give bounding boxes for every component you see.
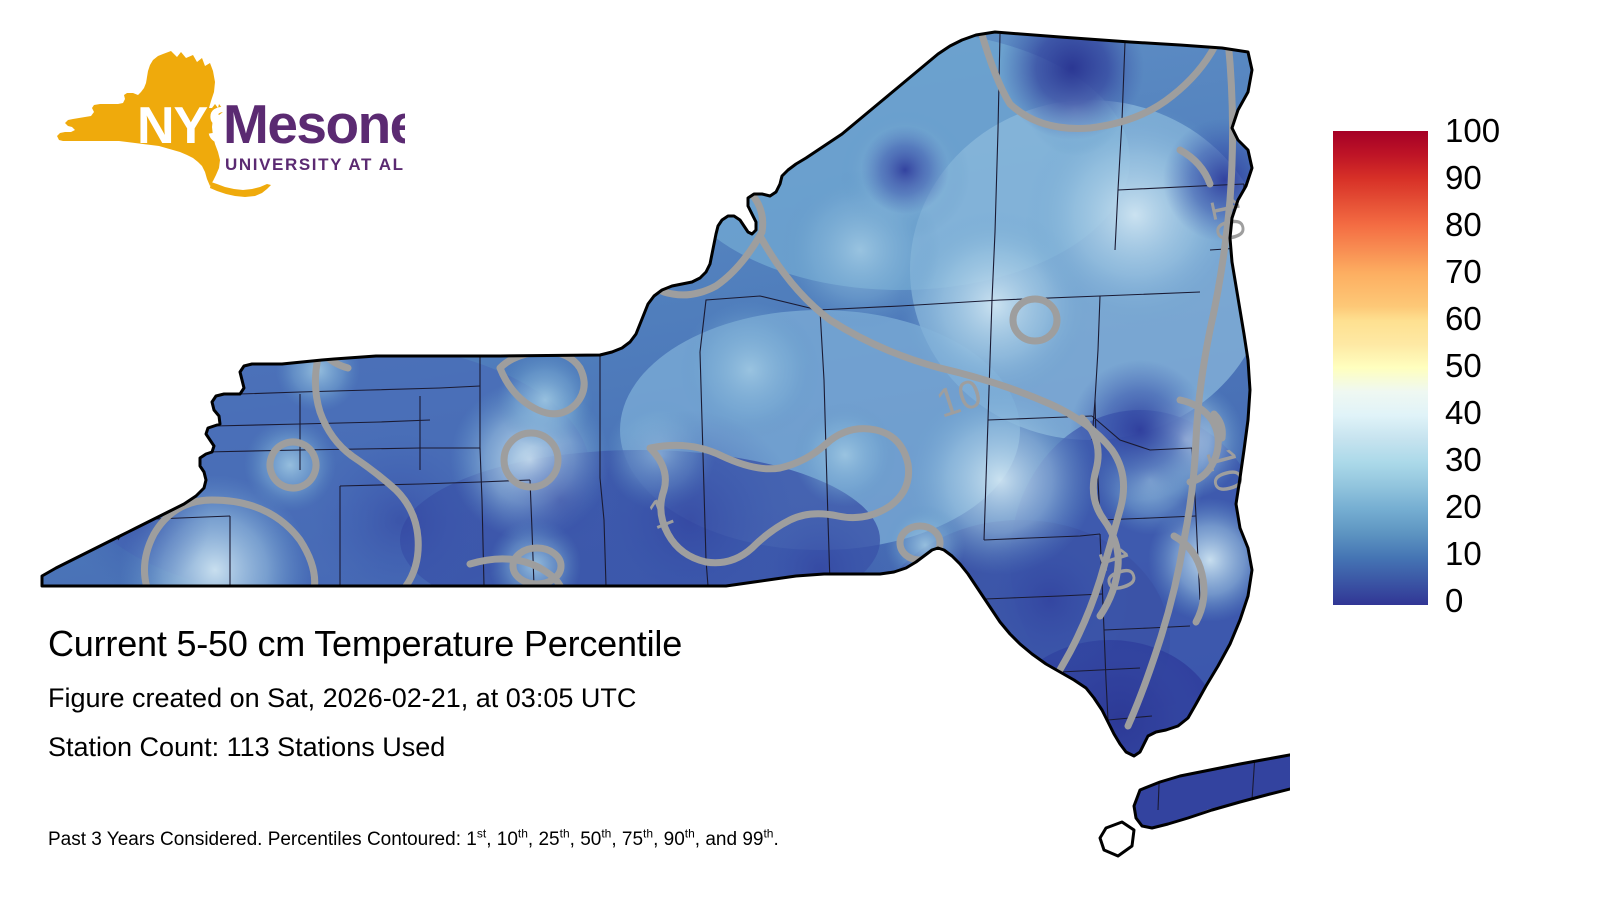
colorbar-tick-10: 10 (1445, 537, 1553, 570)
footnote-v3: 50 (580, 829, 601, 850)
coldspot-9 (750, 500, 890, 640)
contour-label-10-north: 10 (1201, 193, 1253, 246)
figure-created-line: Figure created on Sat, 2026-02-21, at 03… (48, 682, 1048, 715)
colorbar-tick-30: 30 (1445, 443, 1553, 476)
staten-island-outline (1100, 822, 1134, 856)
footnote: Past 3 Years Considered. Percentiles Con… (48, 828, 779, 852)
footnote-v5: 90 (664, 829, 685, 850)
colorbar-tick-90: 90 (1445, 161, 1553, 194)
footnote-v0: 1 (466, 829, 477, 850)
footnote-end: . (773, 829, 778, 850)
footnote-v2: 25 (538, 829, 559, 850)
footnote-s5: th (685, 827, 695, 841)
footnote-s6: th (763, 827, 773, 841)
footnote-v4: 75 (622, 829, 643, 850)
ny-percentile-map: 10 10 10 10 1 (0, 0, 1290, 900)
colorbar-tick-20: 20 (1445, 490, 1553, 523)
footnote-conjunction: and (705, 829, 737, 850)
caption-block: Current 5-50 cm Temperature Percentile F… (48, 622, 1048, 764)
colorbar-tick-100: 100 (1445, 114, 1553, 147)
colorbar: 100 90 80 70 60 50 40 30 20 10 0 (1333, 122, 1583, 622)
colorbar-tick-80: 80 (1445, 208, 1553, 241)
footnote-s3: th (601, 827, 611, 841)
colorbar-tick-60: 60 (1445, 302, 1553, 335)
map-panel: 10 10 10 10 1 (0, 0, 1290, 900)
footnote-prefix: Past 3 Years Considered. Percentiles Con… (48, 829, 466, 850)
coldspot-2 (861, 126, 949, 214)
colorbar-tick-70: 70 (1445, 255, 1553, 288)
colorbar-gradient (1333, 131, 1428, 605)
footnote-s4: th (643, 827, 653, 841)
footnote-v6: 99 (742, 829, 763, 850)
footnote-v1: 10 (497, 829, 518, 850)
footnote-s2: th (560, 827, 570, 841)
colorbar-tick-0: 0 (1445, 584, 1553, 617)
footnote-s1: th (518, 827, 528, 841)
footnote-s0: st (477, 827, 486, 841)
coldspot-6 (310, 430, 490, 610)
colorbar-tick-50: 50 (1445, 349, 1553, 382)
colorbar-tick-40: 40 (1445, 396, 1553, 429)
page-title: Current 5-50 cm Temperature Percentile (48, 622, 1048, 666)
coldspot-11 (70, 450, 210, 590)
station-count-line: Station Count: 113 Stations Used (48, 731, 1048, 764)
